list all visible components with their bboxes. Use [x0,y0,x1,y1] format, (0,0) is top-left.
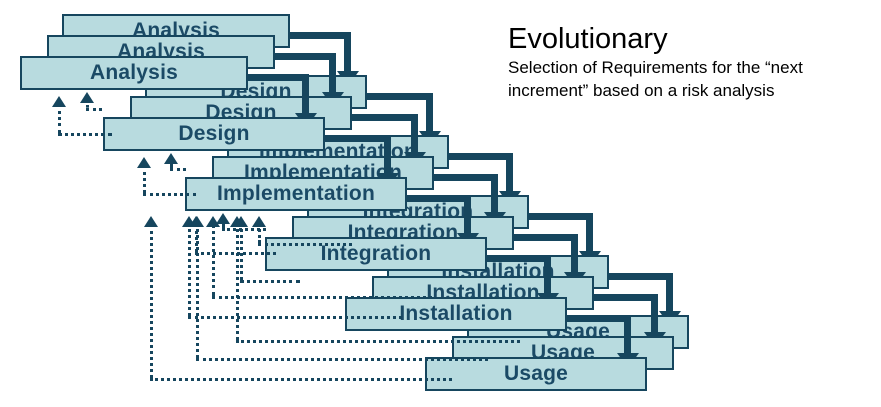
phase-box-usage[interactable]: Usage [425,357,647,391]
forward-arrow-shaft-vertical [344,32,351,71]
feedback-arrow-run-vertical [143,165,146,193]
forward-arrow-shaft-vertical [329,53,336,92]
evolutionary-model-diagram: AnalysisDesignImplementationIntegrationI… [0,0,881,407]
phase-label: Analysis [90,61,178,85]
phase-box-implementation[interactable]: Implementation [185,177,407,211]
phase-label: Implementation [217,182,375,206]
caption-block: Evolutionary Selection of Requirements f… [508,24,870,102]
phase-box-analysis[interactable]: Analysis [20,56,248,90]
caption-title: Evolutionary [508,24,870,54]
forward-arrow-shaft-horizontal [434,174,498,181]
feedback-arrow-head [230,216,244,227]
forward-arrow-shaft-vertical [491,174,498,212]
phase-label: Installation [399,302,512,326]
feedback-arrow-run-horizontal [188,316,402,319]
forward-arrow-shaft-vertical [586,213,593,251]
feedback-arrow-head [190,216,204,227]
feedback-arrow-run-vertical [196,224,199,358]
forward-arrow-shaft-horizontal [325,135,391,142]
forward-arrow-shaft-vertical [544,255,551,293]
feedback-arrow-run-horizontal [240,280,300,283]
feedback-arrow-run-horizontal [58,133,112,136]
feedback-arrow-run-horizontal [236,340,520,343]
feedback-arrow-run-horizontal [86,108,102,111]
phase-label: Design [178,122,249,146]
feedback-arrow-run-vertical [150,224,153,378]
forward-arrow-shaft-vertical [666,273,673,311]
feedback-arrow-run-vertical [240,224,243,280]
forward-arrow-shaft-vertical [651,294,658,332]
forward-arrow-shaft-vertical [464,195,471,233]
feedback-arrow-run-horizontal [170,168,186,171]
feedback-arrow-run-horizontal [150,378,452,381]
forward-arrow-shaft-horizontal [514,234,578,241]
feedback-arrow-head [164,153,178,164]
forward-arrow-shaft-horizontal [449,153,513,160]
phase-box-installation[interactable]: Installation [345,297,567,331]
feedback-arrow-head [144,216,158,227]
forward-arrow-shaft-horizontal [248,74,309,81]
forward-arrow-shaft-vertical [384,135,391,173]
forward-arrow-shaft-vertical [506,153,513,191]
forward-arrow-shaft-horizontal [487,255,551,262]
forward-arrow-shaft-horizontal [407,195,471,202]
feedback-arrow-run-vertical [188,224,191,316]
feedback-arrow-head [252,216,266,227]
feedback-arrow-run-vertical [212,224,215,296]
feedback-arrow-head [206,216,220,227]
feedback-arrow-run-horizontal [196,358,488,361]
forward-arrow-shaft-vertical [411,114,418,152]
feedback-arrow-head [80,92,94,103]
forward-arrow-shaft-vertical [302,74,309,113]
forward-arrow-shaft-horizontal [352,114,418,121]
feedback-arrow-head [137,157,151,168]
forward-arrow-shaft-horizontal [594,294,658,301]
forward-arrow-shaft-horizontal [609,273,673,280]
feedback-arrow-run-horizontal [143,193,196,196]
forward-arrow-shaft-horizontal [567,315,631,322]
phase-box-design[interactable]: Design [103,117,325,151]
forward-arrow-shaft-horizontal [275,53,336,60]
phase-label: Usage [504,362,568,386]
feedback-arrow-run-vertical [58,104,61,133]
feedback-arrow-run-horizontal [258,243,352,246]
forward-arrow-shaft-horizontal [367,93,433,100]
feedback-arrow-run-vertical [236,224,239,340]
caption-body: Selection of Requirements for the “next … [508,56,870,102]
forward-arrow-shaft-vertical [426,93,433,131]
forward-arrow-shaft-horizontal [290,32,351,39]
forward-arrow-shaft-vertical [571,234,578,272]
forward-arrow-shaft-vertical [624,315,631,353]
forward-arrow-shaft-horizontal [529,213,593,220]
feedback-arrow-run-horizontal [212,296,432,299]
feedback-arrow-head [52,96,66,107]
